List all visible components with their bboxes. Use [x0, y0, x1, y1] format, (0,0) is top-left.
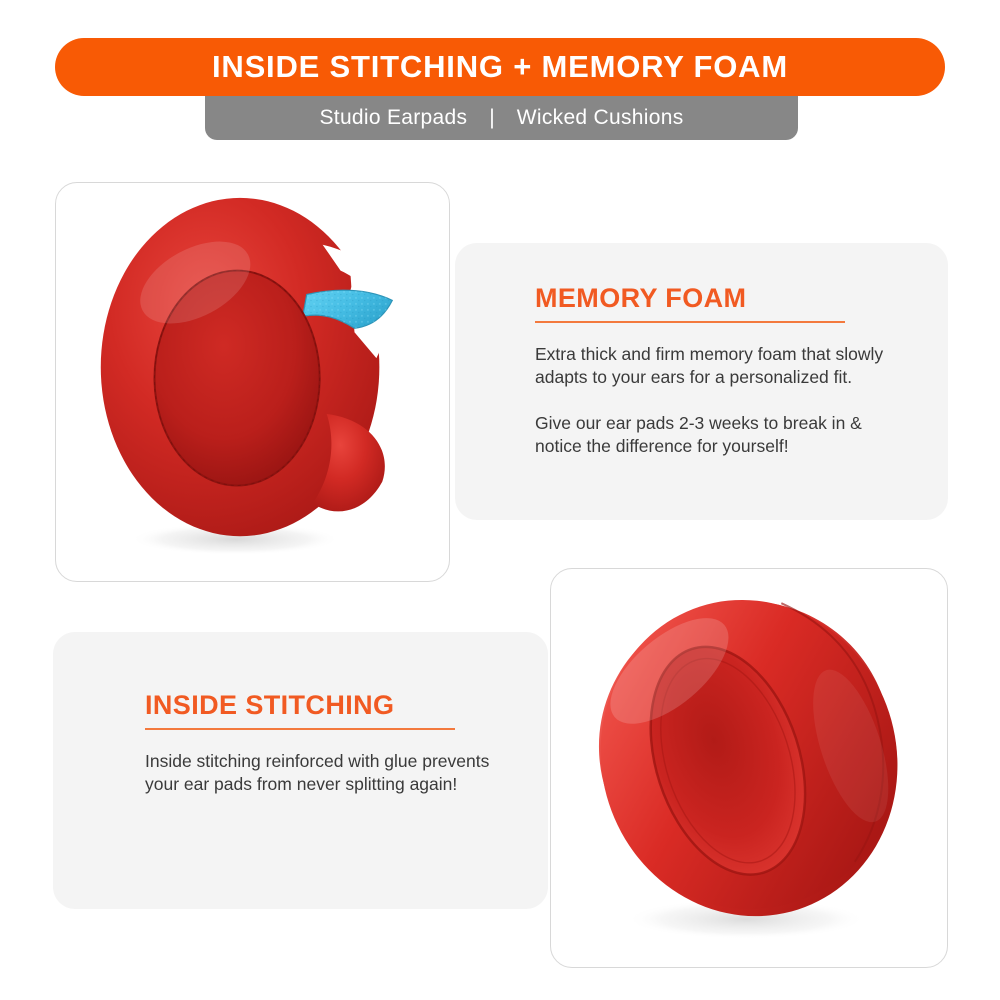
memory-foam-title-rule	[535, 321, 845, 323]
earpad-angled-card	[550, 568, 948, 968]
memory-foam-title: MEMORY FOAM	[535, 283, 895, 314]
inside-stitching-paragraph-1: Inside stitching reinforced with glue pr…	[145, 750, 505, 797]
inside-stitching-title: INSIDE STITCHING	[145, 690, 505, 721]
inside-stitching-text-block: INSIDE STITCHING Inside stitching reinfo…	[145, 690, 505, 797]
subtitle-right-label: Wicked Cushions	[517, 106, 684, 130]
earpad-cutaway-image	[56, 183, 449, 581]
earpad-angled-image	[551, 569, 947, 967]
subtitle-left-label: Studio Earpads	[320, 106, 468, 130]
memory-foam-paragraph-1: Extra thick and firm memory foam that sl…	[535, 343, 895, 390]
earpad-toroid-body	[558, 569, 938, 955]
subtitle-bar: Studio Earpads | Wicked Cushions	[205, 96, 798, 140]
memory-foam-panel: MEMORY FOAM Extra thick and firm memory …	[455, 243, 948, 520]
infographic-page: INSIDE STITCHING + MEMORY FOAM Studio Ea…	[0, 0, 1000, 1000]
memory-foam-paragraph-2: Give our ear pads 2-3 weeks to break in …	[535, 412, 895, 459]
header-banner-title: INSIDE STITCHING + MEMORY FOAM	[212, 49, 788, 85]
header-banner: INSIDE STITCHING + MEMORY FOAM	[55, 38, 945, 96]
memory-foam-text-block: MEMORY FOAM Extra thick and firm memory …	[535, 283, 895, 459]
inside-stitching-title-rule	[145, 728, 455, 730]
subtitle-separator: |	[467, 106, 516, 130]
inside-stitching-panel: INSIDE STITCHING Inside stitching reinfo…	[53, 632, 548, 909]
earpad-cutaway-card	[55, 182, 450, 582]
